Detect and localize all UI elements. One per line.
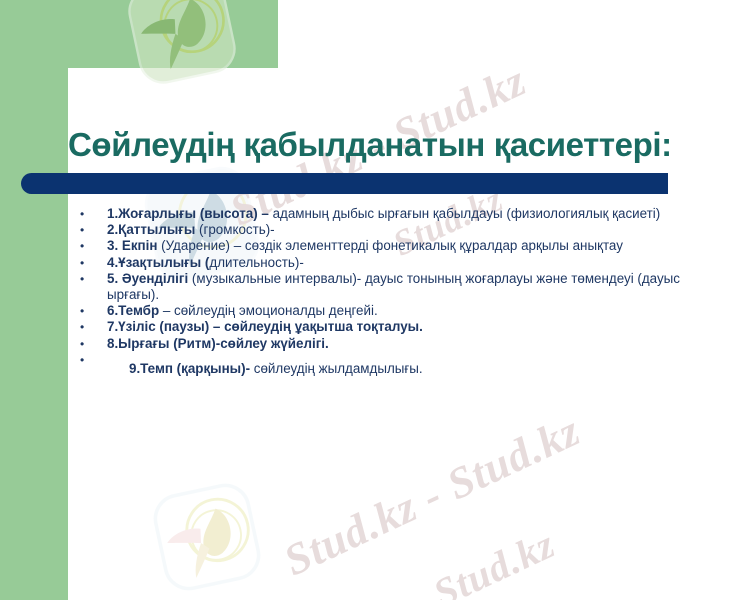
list-item-bold: 4.Ұзақтылығы ( bbox=[107, 255, 209, 270]
bullet-list: 1.Жоғарлығы (высота) – адамның дыбыс ырғ… bbox=[70, 206, 732, 377]
list-item-bold: 3. Екпін bbox=[107, 238, 157, 253]
list-item-text: (громкость)- bbox=[195, 222, 274, 237]
list-item-bold: 9.Темп (қарқыны)- bbox=[129, 361, 250, 376]
list-item: 3. Екпін (Ударение) – сөздік элементтерд… bbox=[70, 238, 732, 254]
list-item-bold: 5. Әуенділігі bbox=[107, 271, 188, 286]
list-item-bold: 6.Тембр bbox=[107, 303, 159, 318]
left-green-band bbox=[0, 0, 68, 600]
list-item-text: (Ударение) – сөздік элементтерді фонетик… bbox=[157, 238, 623, 253]
list-item: 2.Қаттылығы (громкость)- bbox=[70, 222, 732, 238]
list-item-text: (музыкальные интервалы)- дауыс тонының ж… bbox=[107, 271, 680, 302]
list-item-bold: 2.Қаттылығы bbox=[107, 222, 195, 237]
page-title: Сөйлеудің қабылданатын қасиеттері: bbox=[68, 128, 738, 163]
list-item: 7.Үзіліс (паузы) – сөйлеудің ұақытша тоқ… bbox=[70, 319, 732, 335]
top-green-band bbox=[0, 0, 278, 68]
list-item: 6.Тембр – сөйлеудің эмоционалды деңгейі. bbox=[70, 303, 732, 319]
list-item-text: сөйлеудің жылдамдылығы. bbox=[250, 361, 423, 376]
list-item-text: адамның дыбыс ырғағын қабылдауы (физиоло… bbox=[269, 206, 660, 221]
list-item: 4.Ұзақтылығы (длительность)- bbox=[70, 255, 732, 271]
list-item: 9.Темп (қарқыны)- сөйлеудің жылдамдылығы… bbox=[70, 352, 732, 377]
list-item: 5. Әуенділігі (музыкальные интервалы)- д… bbox=[70, 271, 732, 303]
presentation-slide: Stud.kz - Stud.kz Stud.kz Stud.kz - Stud… bbox=[0, 0, 738, 600]
list-item-bold: 1.Жоғарлығы (высота) – bbox=[107, 206, 269, 221]
list-item-bold: 8.Ырғағы (Ритм)-сөйлеу жүйелігі. bbox=[107, 336, 329, 351]
list-item: 1.Жоғарлығы (высота) – адамның дыбыс ырғ… bbox=[70, 206, 732, 222]
title-underline-bar bbox=[21, 173, 668, 194]
list-item: 8.Ырғағы (Ритм)-сөйлеу жүйелігі. bbox=[70, 336, 732, 352]
list-item-text: – сөйлеудің эмоционалды деңгейі. bbox=[159, 303, 378, 318]
list-item-text: длительность)- bbox=[209, 255, 303, 270]
list-item-bold: 7.Үзіліс (паузы) – сөйлеудің ұақытша тоқ… bbox=[107, 319, 423, 334]
